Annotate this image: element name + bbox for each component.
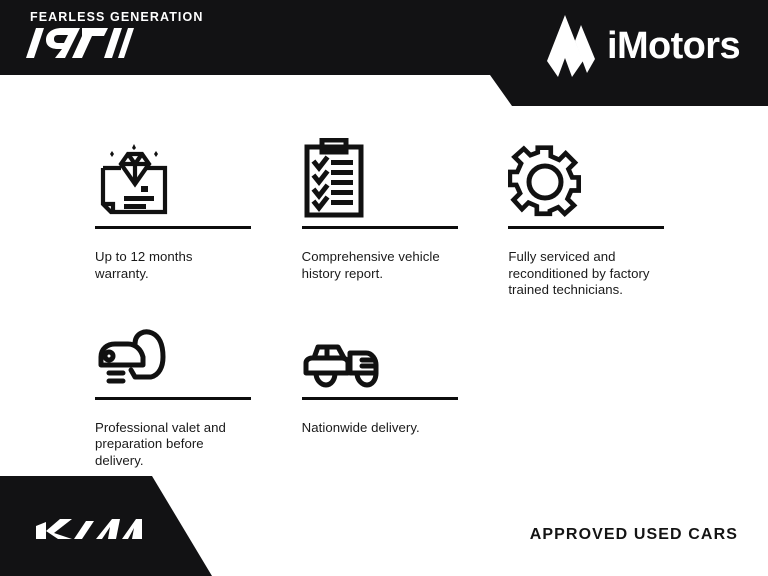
feature-item-warranty: Up to 12 months warranty. [95,130,302,299]
feature-row: Up to 12 months warranty. [95,130,715,299]
feature-row: Professional valet and preparation befor… [95,321,715,470]
feature-label: Nationwide delivery. [302,420,454,437]
feature-item-delivery: Nationwide delivery. [302,321,509,470]
footer-tagline: APPROVED USED CARS [530,526,738,544]
feature-icon-slot [508,130,670,224]
feature-item-placeholder [508,321,715,470]
feature-item-valet: Professional valet and preparation befor… [95,321,302,470]
car-transporter-icon [302,335,382,389]
feature-icon-slot [302,321,464,395]
imotors-chevron-icon [537,15,595,77]
vacuum-cleaner-icon [95,327,175,389]
promo-graphic: FEARLESS GENERATION [0,0,768,576]
feature-label: Up to 12 months warranty. [95,249,247,282]
kia-logo [34,518,144,544]
feature-label: Professional valet and preparation befor… [95,420,247,470]
gem-certificate-icon [95,142,173,218]
feature-label: Comprehensive vehicle history report. [302,249,454,282]
feature-icon-slot [95,321,257,395]
feature-grid: Up to 12 months warranty. [95,130,715,469]
feature-divider [95,397,251,400]
feature-icon-slot [302,130,464,224]
feature-item-history-report: Comprehensive vehicle history report. [302,130,509,299]
fearless-generation-lockup: FEARLESS GENERATION [24,10,284,60]
feature-divider [508,226,664,229]
clipboard-checklist-icon [302,138,366,218]
feature-icon-slot [95,130,257,224]
feature-item-servicing: Fully serviced and reconditioned by fact… [508,130,715,299]
gear-icon [508,144,582,218]
footer-brand-panel [0,476,230,576]
year-1971-mark [24,26,134,60]
feature-divider [95,226,251,229]
feature-divider [302,397,458,400]
feature-divider [302,226,458,229]
feature-label: Fully serviced and reconditioned by fact… [508,249,660,299]
header-bar: FEARLESS GENERATION [0,0,768,106]
imotors-wordmark: iMotors [607,24,740,68]
imotors-logo: iMotors [537,15,740,77]
header-tagline: FEARLESS GENERATION [24,10,284,24]
